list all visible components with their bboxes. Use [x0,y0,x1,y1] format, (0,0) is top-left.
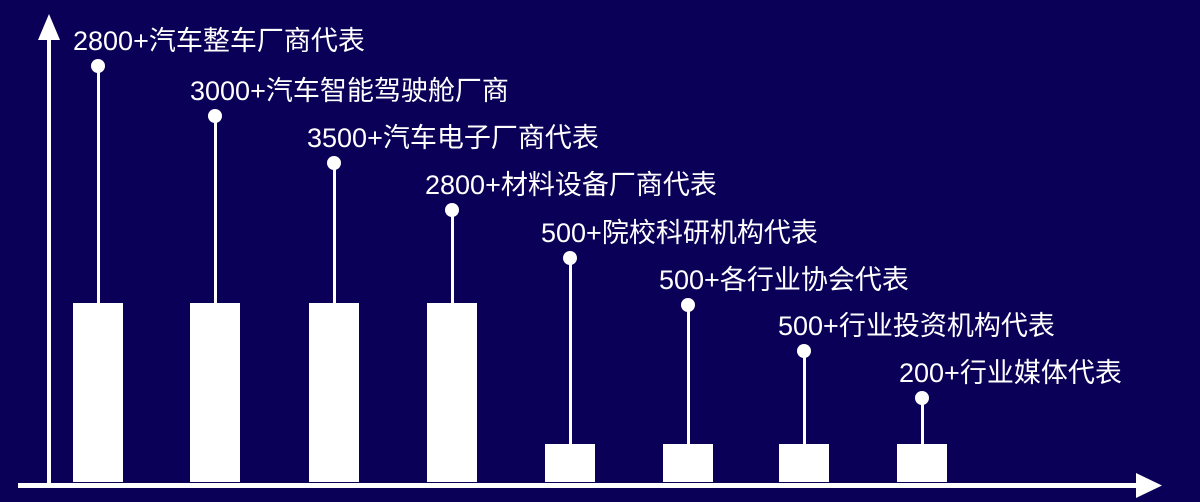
bar-4 [545,444,595,482]
leader-line-6 [803,351,806,444]
y-axis-arrow [38,14,60,485]
bar-0 [73,303,123,482]
leader-line-5 [687,305,690,444]
chart-canvas: 2800+汽车整车厂商代表3000+汽车智能驾驶舱厂商3500+汽车电子厂商代表… [0,0,1200,502]
bar-7 [897,444,947,482]
marker-dot-0 [91,59,105,73]
chart-axes [0,0,1200,502]
leader-line-2 [333,163,336,303]
bar-label-0: 2800+汽车整车厂商代表 [73,26,365,56]
marker-dot-3 [445,203,459,217]
bar-2 [309,303,359,482]
bar-label-6: 500+行业投资机构代表 [778,311,1055,341]
bar-1 [190,303,240,482]
bar-label-2: 3500+汽车电子厂商代表 [307,123,599,153]
marker-dot-1 [208,109,222,123]
bar-label-7: 200+行业媒体代表 [899,358,1122,388]
bar-label-1: 3000+汽车智能驾驶舱厂商 [190,76,509,106]
bar-label-4: 500+院校科研机构代表 [541,218,818,248]
bar-6 [779,444,829,482]
marker-dot-2 [327,156,341,170]
marker-dot-5 [681,298,695,312]
leader-line-0 [97,66,100,303]
bar-3 [427,303,477,482]
leader-line-4 [569,258,572,444]
leader-line-3 [451,210,454,303]
marker-dot-7 [915,391,929,405]
marker-dot-4 [563,251,577,265]
bar-5 [663,444,713,482]
bar-label-5: 500+各行业协会代表 [659,265,909,295]
leader-line-1 [214,116,217,303]
bar-label-3: 2800+材料设备厂商代表 [425,170,717,200]
marker-dot-6 [797,344,811,358]
